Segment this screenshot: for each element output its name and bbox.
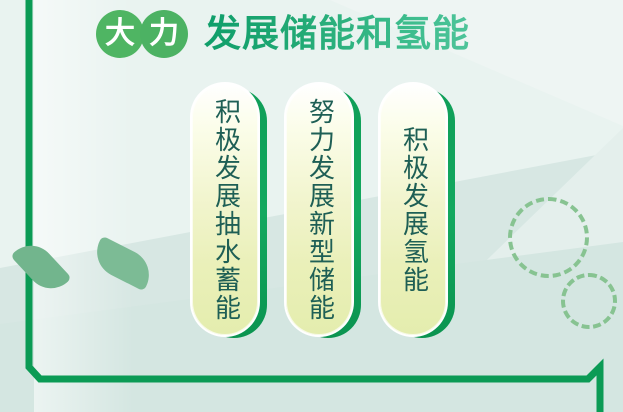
card-item[interactable]: 积极发展氢能: [380, 84, 456, 336]
card-item[interactable]: 努力发展新型储能: [286, 84, 362, 336]
card-label: 积极发展抽水蓄能: [210, 98, 239, 322]
card-item[interactable]: 积极发展抽水蓄能: [192, 84, 268, 336]
card-label: 积极发展氢能: [398, 126, 427, 294]
card-face: 积极发展氢能: [380, 84, 446, 335]
card-face: 努力发展新型储能: [286, 84, 352, 335]
card-label: 努力发展新型储能: [304, 98, 333, 322]
card-group: 积极发展抽水蓄能 努力发展新型储能 积极发展氢能: [0, 0, 623, 412]
card-face: 积极发展抽水蓄能: [192, 84, 258, 335]
poster-canvas: 大 力 发展储能和氢能 积极发展抽水蓄能 努力发展新型储能 积极发展氢能: [0, 0, 623, 412]
